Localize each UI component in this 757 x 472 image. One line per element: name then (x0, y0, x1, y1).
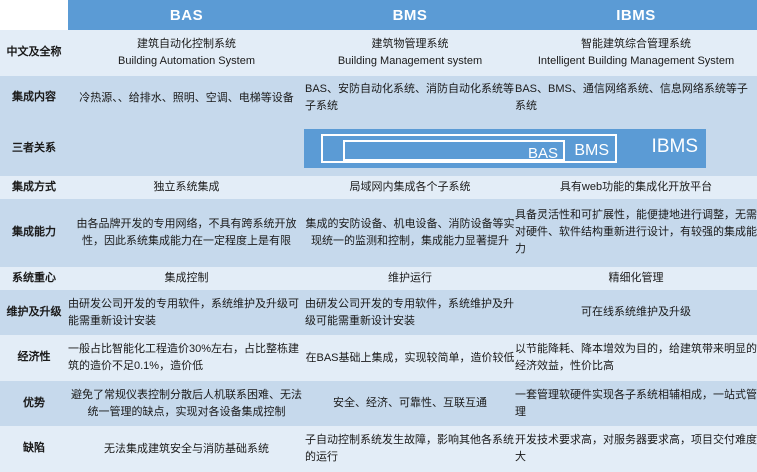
row-label-integration-method: 集成方式 (0, 176, 68, 199)
cell-integration-capability-bms: 集成的安防设备、机电设备、消防设备等实现统一的监测和控制，集成能力显著提升 (305, 199, 515, 267)
relation-diagram-cell: IBMS BMS BAS (68, 121, 757, 176)
nested-boxes-diagram: IBMS BMS BAS (304, 129, 706, 168)
row-label-maintenance-upgrade: 维护及升级 (0, 290, 68, 336)
row-label-advantage: 优势 (0, 381, 68, 427)
table-row: 集成内容 冷热源、、给排水、照明、空调、电梯等设备 BAS、安防自动化系统、消防… (0, 76, 757, 122)
row-label-chinese-fullname: 中文及全称 (0, 30, 68, 76)
diagram-box-bas: BAS (343, 140, 565, 161)
cell-maintenance-upgrade-ibms: 可在线系统维护及升级 (515, 290, 757, 336)
cell-line-cn: 智能建筑综合管理系统 (515, 36, 757, 53)
cell-maintenance-upgrade-bas: 由研发公司开发的专用软件，系统维护及升级可能需重新设计安装 (68, 290, 305, 336)
table-row: 集成能力 由各品牌开发的专用网络，不具有跨系统开放性，因此系统集成能力在一定程度… (0, 199, 757, 267)
column-header-ibms: IBMS (515, 0, 757, 30)
cell-integration-content-bas: 冷热源、、给排水、照明、空调、电梯等设备 (68, 76, 305, 122)
diagram-label-bms: BMS (574, 143, 609, 159)
table-row-relation: 三者关系 IBMS BMS BAS (0, 121, 757, 176)
cell-line-cn: 建筑物管理系统 (305, 36, 515, 53)
row-label-integration-content: 集成内容 (0, 76, 68, 122)
cell-system-focus-ibms: 精细化管理 (515, 267, 757, 290)
cell-line-en: Building Management system (305, 53, 515, 70)
cell-integration-capability-bas: 由各品牌开发的专用网络，不具有跨系统开放性，因此系统集成能力在一定程度上是有限 (68, 199, 305, 267)
diagram-box-bms: BMS BAS (321, 134, 617, 163)
cell-economy-ibms: 以节能降耗、降本增效为目的，给建筑带来明显的经济效益，性价比高 (515, 335, 757, 381)
table-row: 集成方式 独立系统集成 局域网内集成各个子系统 具有web功能的集成化开放平台 (0, 176, 757, 199)
cell-line-en: Intelligent Building Management System (515, 53, 757, 70)
row-label-integration-capability: 集成能力 (0, 199, 68, 267)
cell-integration-method-bms: 局域网内集成各个子系统 (305, 176, 515, 199)
cell-defect-bms: 子自动控制系统发生故障，影响其他各系统的运行 (305, 426, 515, 472)
cell-maintenance-upgrade-bms: 由研发公司开发的专用软件，系统维护及升级可能需重新设计安装 (305, 290, 515, 336)
cell-system-focus-bms: 维护运行 (305, 267, 515, 290)
table-row: 系统重心 集成控制 维护运行 精细化管理 (0, 267, 757, 290)
header-corner-cell (0, 0, 68, 30)
table-row: 维护及升级 由研发公司开发的专用软件，系统维护及升级可能需重新设计安装 由研发公… (0, 290, 757, 336)
cell-defect-bas: 无法集成建筑安全与消防基础系统 (68, 426, 305, 472)
cell-line-en: Building Automation System (68, 53, 305, 70)
diagram-box-ibms: IBMS BMS BAS (304, 129, 706, 168)
row-label-defect: 缺陷 (0, 426, 68, 472)
table-row: 缺陷 无法集成建筑安全与消防基础系统 子自动控制系统发生故障，影响其他各系统的运… (0, 426, 757, 472)
cell-system-focus-bas: 集成控制 (68, 267, 305, 290)
cell-economy-bms: 在BAS基础上集成，实现较简单，造价较低 (305, 335, 515, 381)
cell-integration-capability-ibms: 具备灵活性和可扩展性，能便捷地进行调整，无需对硬件、软件结构重新进行设计，有较强… (515, 199, 757, 267)
cell-chinese-fullname-bas: 建筑自动化控制系统 Building Automation System (68, 30, 305, 76)
cell-advantage-ibms: 一套管理软硬件实现各子系统相辅相成，一站式管理 (515, 381, 757, 427)
cell-advantage-bas: 避免了常规仪表控制分散后人机联系困难、无法统一管理的缺点，实现对各设备集成控制 (68, 381, 305, 427)
cell-chinese-fullname-ibms: 智能建筑综合管理系统 Intelligent Building Manageme… (515, 30, 757, 76)
cell-defect-ibms: 开发技术要求高，对服务器要求高，项目交付难度大 (515, 426, 757, 472)
diagram-label-bas: BAS (528, 146, 558, 161)
row-label-economy: 经济性 (0, 335, 68, 381)
row-label-three-relation: 三者关系 (0, 121, 68, 176)
cell-integration-method-bas: 独立系统集成 (68, 176, 305, 199)
table-row: 优势 避免了常规仪表控制分散后人机联系困难、无法统一管理的缺点，实现对各设备集成… (0, 381, 757, 427)
column-header-bas: BAS (68, 0, 305, 30)
cell-economy-bas: 一般占比智能化工程造价30%左右，占比整栋建筑的造价不足0.1%，造价低 (68, 335, 305, 381)
table-row: 中文及全称 建筑自动化控制系统 Building Automation Syst… (0, 30, 757, 76)
table-header-row: BAS BMS IBMS (0, 0, 757, 30)
cell-chinese-fullname-bms: 建筑物管理系统 Building Management system (305, 30, 515, 76)
diagram-label-ibms: IBMS (652, 137, 698, 156)
cell-integration-content-ibms: BAS、BMS、通信网络系统、信息网络系统等子系统 (515, 76, 757, 122)
cell-integration-content-bms: BAS、安防自动化系统、消防自动化系统等子系统 (305, 76, 515, 122)
column-header-bms: BMS (305, 0, 515, 30)
cell-integration-method-ibms: 具有web功能的集成化开放平台 (515, 176, 757, 199)
row-label-system-focus: 系统重心 (0, 267, 68, 290)
cell-advantage-bms: 安全、经济、可靠性、互联互通 (305, 381, 515, 427)
cell-line-cn: 建筑自动化控制系统 (68, 36, 305, 53)
table-row: 经济性 一般占比智能化工程造价30%左右，占比整栋建筑的造价不足0.1%，造价低… (0, 335, 757, 381)
comparison-table: BAS BMS IBMS 中文及全称 建筑自动化控制系统 Building Au… (0, 0, 757, 472)
